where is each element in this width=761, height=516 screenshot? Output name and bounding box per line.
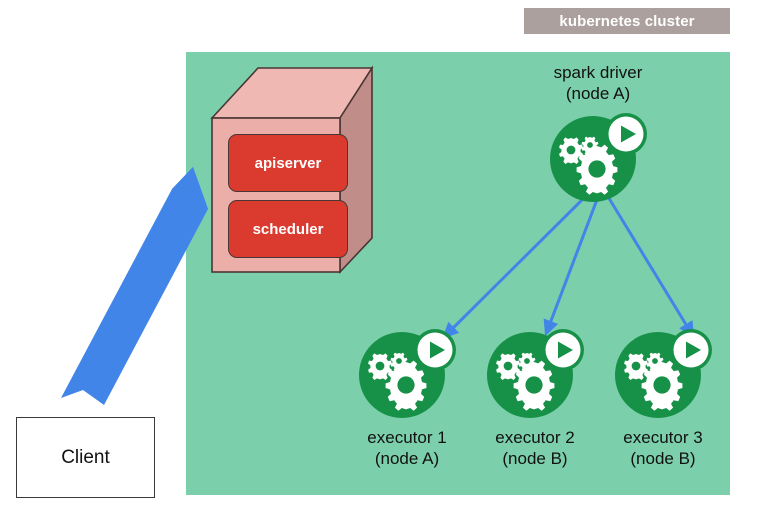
gears-icon: [548, 112, 648, 204]
diagram-canvas: kubernetes cluster Client spark-submit a…: [0, 0, 761, 516]
cluster-title-badge: kubernetes cluster: [524, 8, 730, 34]
play-icon: [546, 333, 581, 368]
play-icon: [609, 117, 644, 152]
client-box[interactable]: Client: [16, 417, 155, 498]
play-icon: [418, 333, 453, 368]
gears-icon: [357, 328, 457, 420]
executor-3-node[interactable]: [613, 328, 713, 420]
scheduler-label: scheduler: [229, 201, 347, 257]
scheduler-component[interactable]: scheduler: [228, 200, 348, 258]
apiserver-component[interactable]: apiserver: [228, 134, 348, 192]
executor-2-node[interactable]: [485, 328, 585, 420]
executor-3-node: (node B): [588, 448, 738, 469]
client-label: Client: [61, 447, 110, 469]
play-icon: [674, 333, 709, 368]
cluster-title-label: kubernetes cluster: [559, 13, 694, 30]
gears-icon: [485, 328, 585, 420]
executor-3-name: executor 3: [588, 427, 738, 448]
control-plane-cube: apiserver scheduler: [204, 60, 376, 280]
executor-3-caption: executor 3 (node B): [588, 427, 738, 469]
apiserver-label: apiserver: [229, 135, 347, 191]
executor-1-node[interactable]: [357, 328, 457, 420]
spark-driver-node: (node A): [520, 83, 676, 104]
spark-submit-arrow: [55, 165, 210, 410]
gears-icon: [613, 328, 713, 420]
spark-driver-name: spark driver: [520, 62, 676, 83]
spark-driver-node[interactable]: [548, 112, 648, 204]
spark-driver-caption: spark driver (node A): [520, 62, 676, 104]
